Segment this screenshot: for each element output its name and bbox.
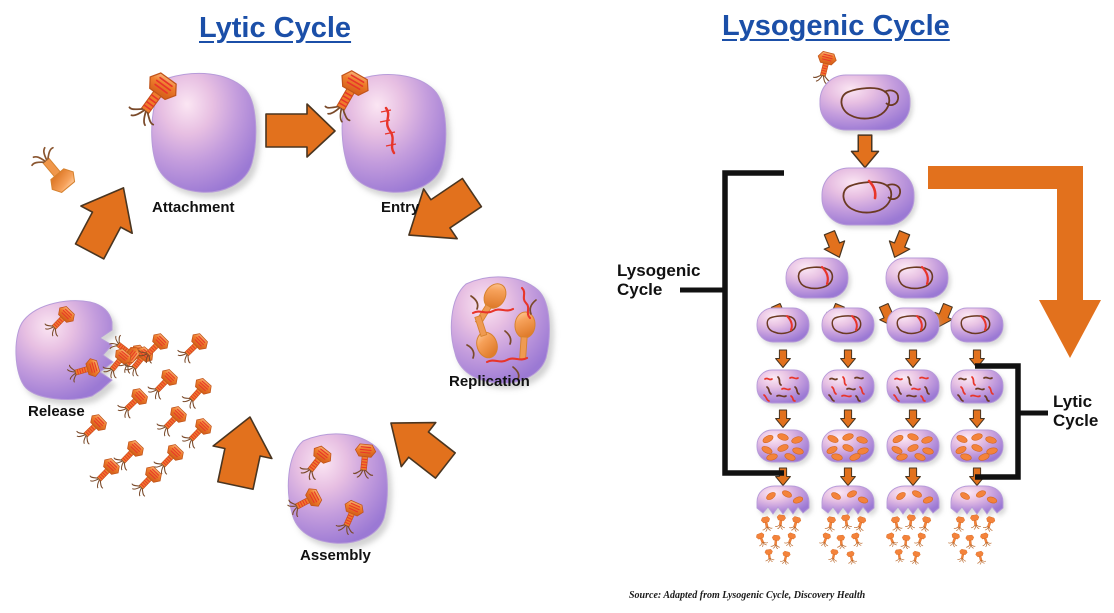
arrow-to-lysis-b <box>841 468 856 486</box>
bracket-label-lytic-line1: Lytic <box>1053 392 1092 411</box>
bracket-label-lysogenic-line1: Lysogenic <box>617 261 700 280</box>
stage-entry-illustration <box>322 68 446 192</box>
stage-release-illustration <box>16 301 214 499</box>
lyso-row-lysis <box>755 486 1003 565</box>
arrow-division-left <box>819 229 849 262</box>
arrow-to-assembly-d <box>970 410 985 428</box>
arrow-attachment-to-entry <box>266 104 335 157</box>
lyso-row-infection <box>820 75 910 130</box>
stage-label-replication: Replication <box>449 373 530 390</box>
stage-label-entry: Entry <box>381 199 419 216</box>
bracket-label-lysogenic-cycle: Lysogenic Cycle <box>617 261 700 299</box>
bracket-label-lysogenic-line2: Cycle <box>617 280 662 299</box>
lyso-row-replication <box>757 370 1003 403</box>
arrow-to-assembly-a <box>776 410 791 428</box>
arrow-infection-to-integration <box>852 135 879 167</box>
lysis-phage-spray <box>885 514 932 564</box>
arrow-to-replication-a <box>776 350 791 368</box>
arrow-assembly-to-release <box>206 411 279 492</box>
lysis-phage-spray <box>755 514 802 564</box>
bracket-label-lytic-line2: Cycle <box>1053 411 1098 430</box>
diagram-artwork <box>0 0 1114 613</box>
arrow-division-right <box>884 229 914 262</box>
arrow-to-replication-c <box>906 350 921 368</box>
stage-replication-illustration <box>451 277 549 383</box>
arrow-to-replication-b <box>841 350 856 368</box>
stage-label-assembly: Assembly <box>300 547 371 564</box>
stage-label-attachment: Attachment <box>152 199 235 216</box>
bracket-label-lytic-cycle: Lytic Cycle <box>1053 392 1098 430</box>
source-attribution: Source: Adapted from Lysogenic Cycle, Di… <box>629 590 865 601</box>
arrow-to-assembly-c <box>906 410 921 428</box>
lyso-row-division-2 <box>757 308 1003 342</box>
arrow-release-to-attachment <box>64 174 149 265</box>
stage-assembly-illustration <box>286 434 388 543</box>
lysogenic-cycle-group <box>680 51 1101 565</box>
lyso-row-integration <box>822 168 914 225</box>
lytic-cycle-group <box>16 68 549 543</box>
lyso-row-division-1 <box>786 258 948 298</box>
diagram-canvas: Lytic Cycle Lysogenic Cycle <box>0 0 1114 613</box>
stage-label-release: Release <box>28 403 85 420</box>
lyso-row-assembly <box>757 430 1003 462</box>
stage-attachment-illustration <box>126 69 256 192</box>
arrow-to-assembly-b <box>841 410 856 428</box>
arrow-to-lysis-c <box>906 468 921 486</box>
free-phage-icon <box>29 144 79 196</box>
lysis-phage-spray <box>948 514 996 564</box>
lysis-phage-spray <box>819 514 867 564</box>
